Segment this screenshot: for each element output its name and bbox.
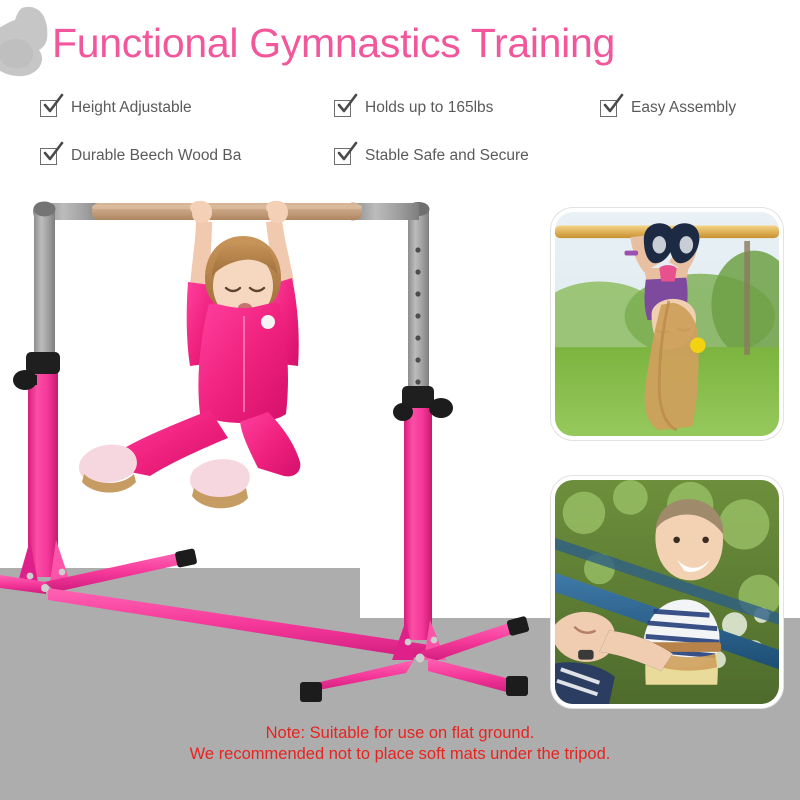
feature-item-beech-wood-bar: Durable Beech Wood Ba: [40, 146, 241, 165]
feature-item-height-adjustable: Height Adjustable: [40, 98, 192, 117]
checkbox-checked-icon: [334, 146, 353, 165]
note-line-1: Note: Suitable for use on flat ground.: [0, 723, 800, 744]
feature-item-easy-assembly: Easy Assembly: [600, 98, 736, 117]
note-line-2: We recommended not to place soft mats un…: [0, 744, 800, 765]
feature-label: Stable Safe and Secure: [365, 147, 529, 165]
product-infographic: Functional Gymnastics Training Height Ad…: [0, 0, 800, 800]
feature-item-stable-safe: Stable Safe and Secure: [334, 146, 529, 165]
feature-list: Height Adjustable Holds up to 165lbs Eas…: [0, 94, 800, 186]
boy-on-blue-bar-photo: [551, 476, 783, 708]
feature-label: Height Adjustable: [71, 99, 192, 117]
note-text: Note: Suitable for use on flat ground. W…: [0, 723, 800, 765]
feature-item-weight-capacity: Holds up to 165lbs: [334, 98, 493, 117]
feature-label: Holds up to 165lbs: [365, 99, 493, 117]
girl-hanging-upside-down-photo: [551, 208, 783, 440]
feature-label: Easy Assembly: [631, 99, 736, 117]
feature-label: Durable Beech Wood Ba: [71, 147, 241, 165]
product-photo-main: [0, 190, 545, 710]
checkbox-checked-icon: [334, 98, 353, 117]
checkbox-checked-icon: [600, 98, 619, 117]
checkbox-checked-icon: [40, 146, 59, 165]
checkbox-checked-icon: [40, 98, 59, 117]
page-title: Functional Gymnastics Training: [52, 22, 615, 65]
